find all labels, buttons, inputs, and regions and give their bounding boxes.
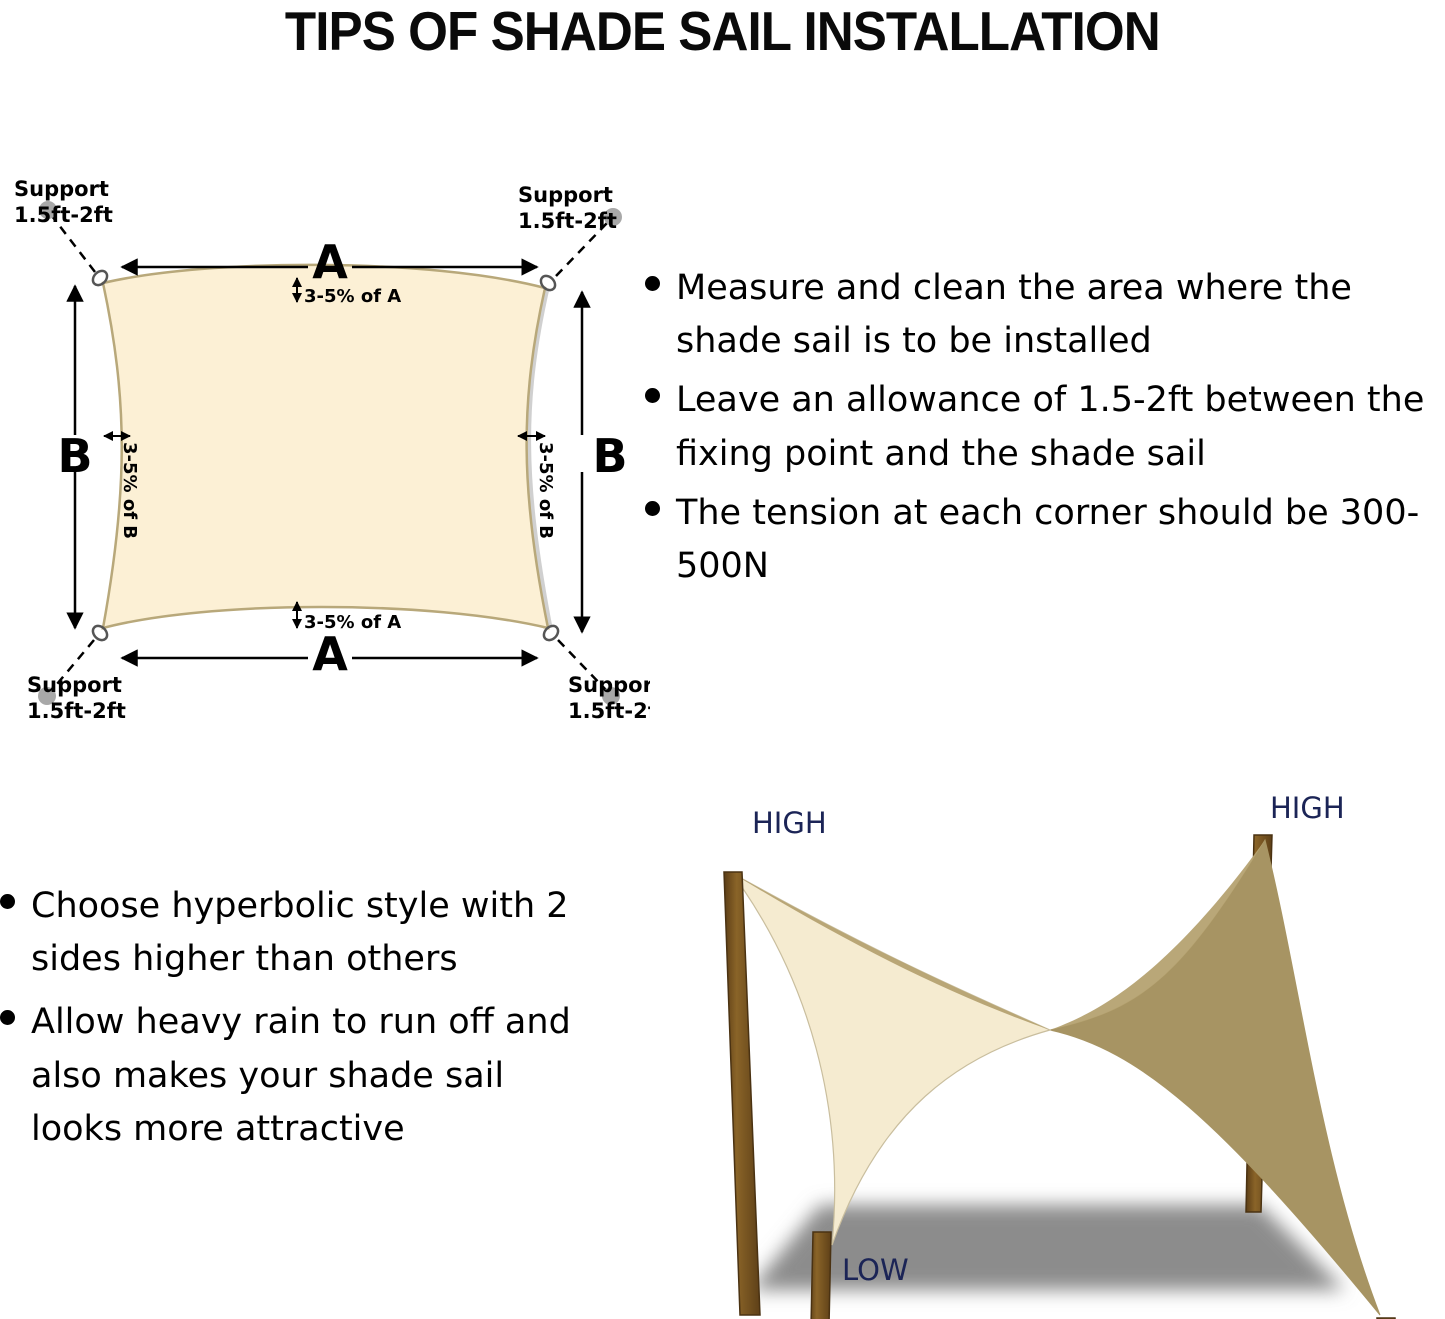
dimension-B-right-label: B: [592, 429, 627, 483]
shade-sail-shape: [103, 265, 548, 628]
support-bottom-left-line2: 1.5ft-2ft: [27, 699, 126, 723]
dimension-B-left: B: [57, 286, 92, 628]
label-high-left: HIGH: [752, 806, 827, 840]
bullet-icon: [0, 1010, 15, 1025]
curve-note-left: 3-5% of B: [104, 436, 140, 539]
bullet-icon: [645, 388, 660, 403]
bottom-tips-list: Choose hyperbolic style with 2 sides hig…: [0, 880, 625, 1156]
support-bottom-right-line1: Support: [568, 673, 650, 697]
support-top-left-line1: Support: [14, 177, 109, 201]
post-high-left: [724, 872, 760, 1315]
support-bottom-right-line2: 1.5ft-2ft: [568, 699, 650, 723]
tip-text: Choose hyperbolic style with 2 sides hig…: [31, 880, 601, 986]
bottom-tips-section: Choose hyperbolic style with 2 sides hig…: [0, 880, 625, 1210]
curve-note-left-label: 3-5% of B: [119, 442, 140, 539]
dimension-B-left-label: B: [57, 429, 92, 483]
label-high-right: HIGH: [1270, 791, 1345, 825]
bullet-icon: [645, 276, 660, 291]
hyperbolic-sail-diagram: HIGH HIGH LOW LOW: [620, 780, 1445, 1319]
tip-text: The tension at each corner should be 300…: [676, 487, 1431, 593]
curve-note-bottom-label: 3-5% of A: [304, 612, 401, 633]
support-top-left-line2: 1.5ft-2ft: [14, 203, 113, 227]
page-title: TIPS OF SHADE SAIL INSTALLATION: [285, 4, 1160, 59]
list-item: Measure and clean the area where the sha…: [645, 262, 1445, 368]
title-bar: TIPS OF SHADE SAIL INSTALLATION: [0, 0, 1445, 62]
list-item: Allow heavy rain to run off and also mak…: [0, 996, 625, 1156]
bullet-icon: [0, 894, 15, 909]
rectangle-sail-diagram: Support 1.5ft-2ft Support 1.5ft-2ft Supp…: [0, 150, 650, 750]
dimension-B-right: B: [582, 292, 628, 632]
list-item: Leave an allowance of 1.5-2ft between th…: [645, 374, 1445, 480]
top-tips-list: Measure and clean the area where the sha…: [645, 262, 1445, 593]
dimension-A-bottom-label: A: [312, 627, 348, 681]
tip-text: Allow heavy rain to run off and also mak…: [31, 996, 601, 1156]
rectangle-sail-svg: Support 1.5ft-2ft Support 1.5ft-2ft Supp…: [0, 150, 650, 750]
support-bottom-left-line1: Support: [27, 673, 122, 697]
list-item: Choose hyperbolic style with 2 sides hig…: [0, 880, 625, 986]
support-top-right-line1: Support: [518, 183, 613, 207]
sail-panel-cream: [732, 873, 1050, 1245]
hyperbolic-sail-svg: HIGH HIGH LOW LOW: [620, 780, 1445, 1319]
curve-note-right-label: 3-5% of B: [535, 442, 556, 539]
support-top-right-line2: 1.5ft-2ft: [518, 209, 617, 233]
bullet-icon: [645, 501, 660, 516]
tip-text: Leave an allowance of 1.5-2ft between th…: [676, 374, 1431, 480]
dimension-A-top-label: A: [312, 235, 348, 289]
dimension-A-bottom: A: [122, 627, 537, 681]
tip-text: Measure and clean the area where the sha…: [676, 262, 1431, 368]
curve-note-top-label: 3-5% of A: [304, 286, 401, 307]
post-low-left: [809, 1232, 831, 1319]
top-tips-section: Measure and clean the area where the sha…: [645, 262, 1445, 662]
label-low-left: LOW: [842, 1253, 909, 1287]
list-item: The tension at each corner should be 300…: [645, 487, 1445, 593]
